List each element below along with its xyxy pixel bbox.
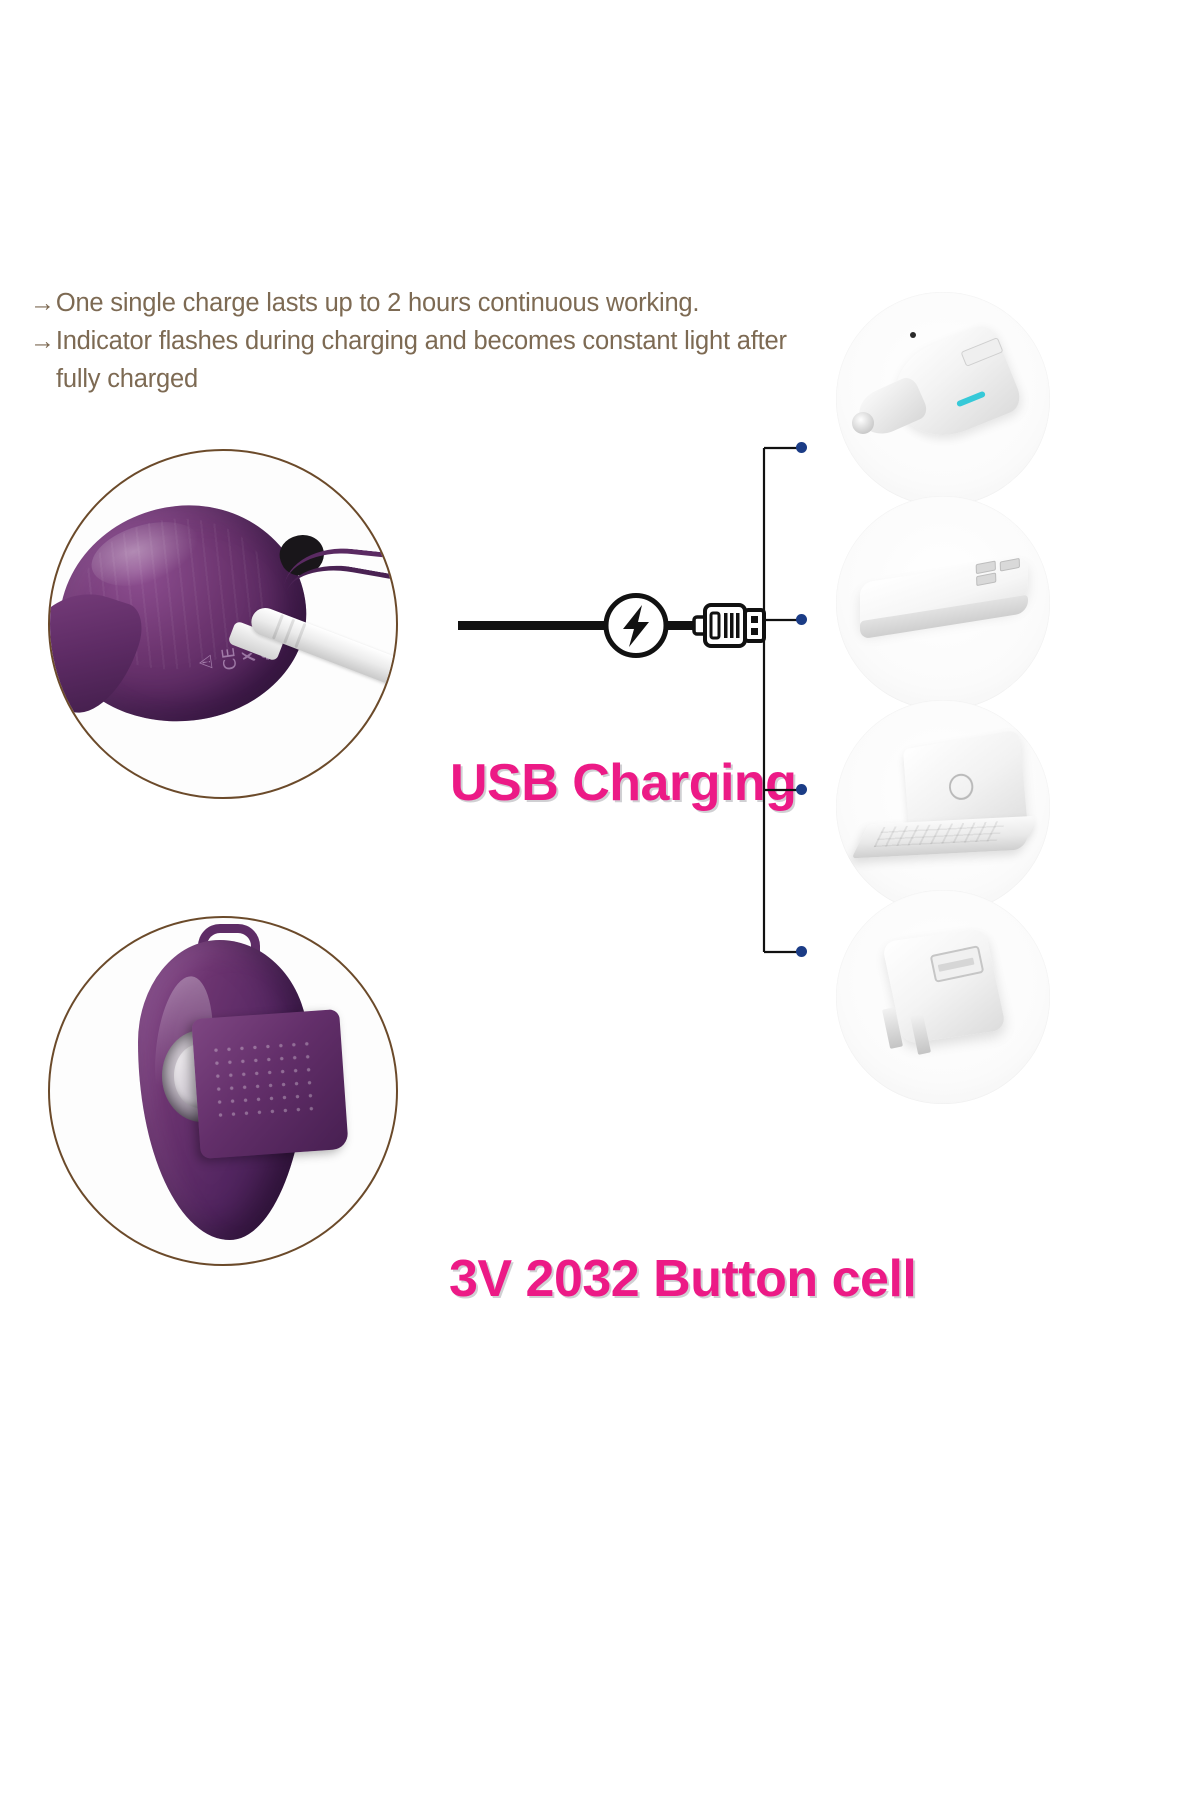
usb-charging-label: USB Charging bbox=[450, 753, 796, 813]
connector-pin bbox=[724, 613, 728, 638]
connector-node-dot-4 bbox=[796, 946, 807, 957]
car-charger-tip bbox=[852, 412, 874, 434]
usb-charging-symbol bbox=[458, 592, 768, 662]
feature-bullet-1: → One single charge lasts up to 2 hours … bbox=[30, 284, 850, 322]
connector-pin bbox=[730, 613, 734, 638]
warning-icon: ⚠ bbox=[198, 653, 217, 670]
connector-node-dot-3 bbox=[796, 784, 807, 795]
power-bank-port bbox=[1000, 558, 1020, 572]
connector-node-dot-2 bbox=[796, 614, 807, 625]
cable-rib bbox=[272, 614, 284, 639]
cable-rib bbox=[283, 618, 295, 643]
connector-tip-dot bbox=[751, 616, 758, 623]
connector-pin bbox=[736, 613, 740, 638]
arrow-icon: → bbox=[30, 322, 55, 360]
battery-cover-lid bbox=[191, 1009, 348, 1159]
connector-tip-dot bbox=[751, 628, 758, 635]
car-charger-button bbox=[910, 332, 916, 338]
feature-bullet-2-text: Indicator flashes during charging and be… bbox=[56, 322, 787, 360]
product-photo-battery-compartment bbox=[48, 916, 398, 1266]
feature-bullet-2-continuation-text: fully charged bbox=[30, 360, 198, 398]
charging-source-car-charger bbox=[836, 292, 1050, 506]
battery-cover-texture bbox=[209, 1037, 318, 1124]
cable-lead bbox=[666, 621, 696, 630]
infographic-page: → One single charge lasts up to 2 hours … bbox=[0, 0, 1201, 1801]
charging-source-power-bank bbox=[836, 496, 1050, 710]
button-cell-label: 3V 2032 Button cell bbox=[449, 1249, 916, 1309]
wall-adapter-body bbox=[882, 928, 1007, 1044]
wall-adapter-usb-slot bbox=[938, 958, 975, 972]
laptop-logo-icon bbox=[948, 772, 974, 800]
cable-line bbox=[458, 621, 604, 630]
cable-rib bbox=[294, 623, 306, 648]
source-bracket bbox=[762, 440, 822, 960]
ce-mark-icon: CE bbox=[221, 646, 241, 671]
product-photo-charging-port: ⚠ CE ✗ ♻ bbox=[48, 449, 398, 799]
feature-bullet-2-continuation: fully charged bbox=[30, 360, 850, 398]
arrow-icon: → bbox=[30, 284, 55, 322]
charging-source-wall-adapter bbox=[836, 890, 1050, 1104]
connector-node-dot-1 bbox=[796, 442, 807, 453]
feature-bullet-list: → One single charge lasts up to 2 hours … bbox=[30, 284, 850, 398]
feature-bullet-1-text: One single charge lasts up to 2 hours co… bbox=[56, 284, 699, 322]
feature-bullet-2: → Indicator flashes during charging and … bbox=[30, 322, 850, 360]
charging-source-laptop bbox=[836, 700, 1050, 914]
